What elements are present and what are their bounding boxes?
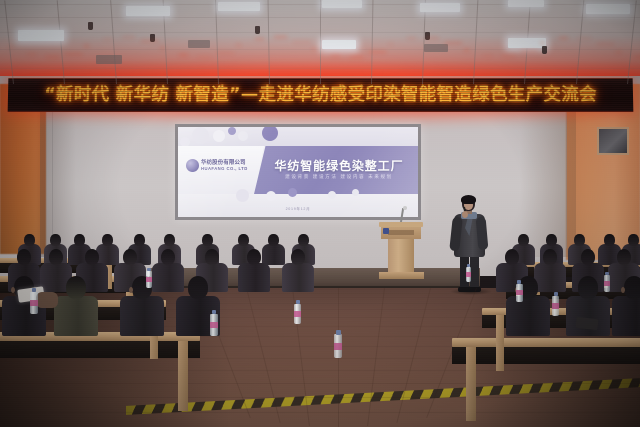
bottle-label: [604, 281, 610, 286]
water-bottle: [552, 292, 559, 316]
water-bottle: [146, 268, 152, 288]
bottle-cap: [296, 300, 300, 304]
bottle-layer: [0, 0, 640, 427]
water-bottle: [210, 310, 218, 336]
bottle-cap: [147, 268, 150, 271]
water-bottle: [294, 300, 301, 324]
bottle-label: [516, 290, 523, 295]
bottle-cap: [554, 292, 558, 296]
bottle-cap: [32, 288, 36, 292]
water-bottle: [30, 288, 38, 314]
conference-hall-photo: “新时代 新华纺 新智造”—走进华纺感受印染智能智造绿色生产交流会 华纺股份有限…: [0, 0, 640, 427]
bottle-cap: [212, 310, 216, 314]
bottle-cap: [336, 330, 341, 335]
water-bottle: [604, 272, 610, 292]
bottle-label: [552, 303, 559, 309]
water-bottle: [334, 330, 342, 358]
bottle-label: [294, 311, 301, 317]
bottle-label: [30, 300, 38, 306]
bottle-label: [466, 272, 471, 276]
bottle-label: [146, 277, 152, 282]
bottle-label: [334, 343, 342, 350]
bottle-cap: [517, 280, 521, 284]
bottle-label: [210, 322, 218, 328]
bottle-cap: [605, 272, 608, 275]
water-bottle: [516, 280, 523, 302]
water-bottle: [466, 264, 471, 282]
bottle-cap: [467, 264, 470, 267]
